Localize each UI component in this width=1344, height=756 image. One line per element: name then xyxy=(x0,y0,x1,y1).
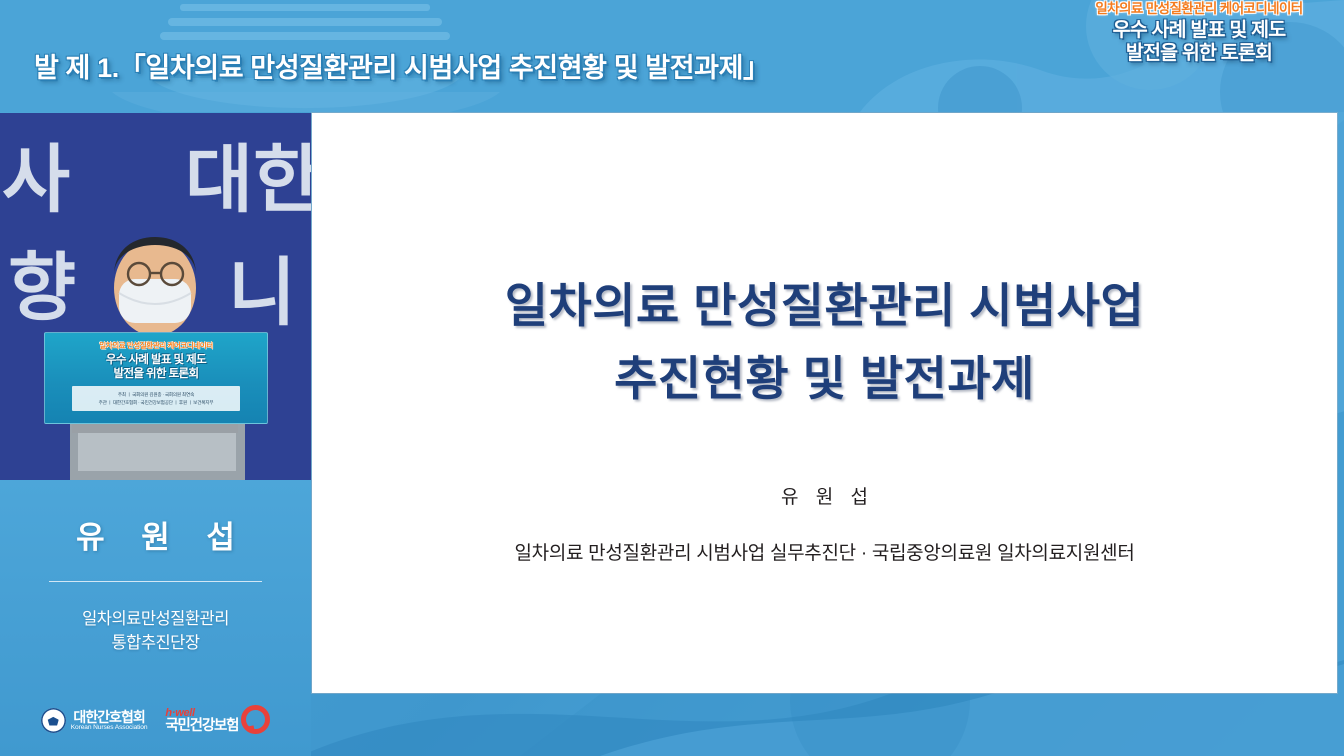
podium-banner-line2: 발전을 위한 토론회 xyxy=(45,367,267,381)
podium-banner-line1: 우수 사례 발표 및 제도 xyxy=(45,353,267,367)
speaker-role-line1: 일차의료만성질환관리 xyxy=(0,608,311,632)
nurses-seal-icon xyxy=(41,708,66,733)
presentation-slide[interactable]: 일차의료 만성질환관리 시범사업 추진현황 및 발전과제 유 원 섭 일차의료 … xyxy=(312,113,1337,693)
podium-banner-credits: 주최 ㅣ 국회의원 김원종 · 국회의원 최연숙 주관 ㅣ 대한간호협회 · 국… xyxy=(72,386,240,411)
event-logo-kicker: 일차의료 만성질환관리 케어코디네이터 xyxy=(1064,2,1334,16)
event-logo-line2: 발전을 위한 토론회 xyxy=(1064,42,1334,65)
podium-banner: 일차의료 만성질환관리 케어코디네이터 우수 사례 발표 및 제도 발전을 위한… xyxy=(44,332,268,424)
speaker-name: 유 원 섭 xyxy=(0,480,311,557)
slide-affiliation: 일차의료 만성질환관리 시범사업 실무추진단 · 국립중앙의료원 일차의료지원센… xyxy=(514,538,1134,565)
speaker-role: 일차의료만성질환관리 통합추진단장 xyxy=(0,608,311,656)
event-logo: 일차의료 만성질환관리 케어코디네이터 우수 사례 발표 및 제도 발전을 위한… xyxy=(1064,2,1334,65)
presentation-stage: 발 제 1.「일차의료 만성질환관리 시범사업 추진현황 및 발전과제」 일차의… xyxy=(0,0,1344,756)
slide-title-line1: 일차의료 만성질환관리 시범사업 xyxy=(505,279,1144,332)
kna-logo-en: Korean Nurses Association xyxy=(71,724,148,733)
svg-text:니: 니 xyxy=(228,251,296,334)
organizer-logos: 대한간호협회 Korean Nurses Association h·well … xyxy=(0,708,311,734)
podium-credit-2: 주관 ㅣ 대한간호협회 · 국민건강보험공단 ㅣ 후원 ㅣ 보건복지부 xyxy=(72,400,240,406)
slide-title-line2: 추진현황 및 발전과제 xyxy=(505,343,1144,416)
kna-logo-ko: 대한간호협회 xyxy=(71,710,148,724)
slide-title: 일차의료 만성질환관리 시범사업 추진현황 및 발전과제 xyxy=(505,270,1144,416)
podium-credit-1: 주최 ㅣ 국회의원 김원종 · 국회의원 최연숙 xyxy=(72,392,240,398)
nhis-logo: h·well 국민건강보험 xyxy=(165,708,270,734)
svg-text:대한: 대한 xyxy=(185,138,311,221)
banner-title: 발 제 1.「일차의료 만성질환관리 시범사업 추진현황 및 발전과제」 xyxy=(34,46,770,85)
speaker-divider xyxy=(49,581,262,582)
svg-text:향: 향 xyxy=(8,246,76,329)
podium-banner-kicker: 일차의료 만성질환관리 케어코디네이터 xyxy=(45,340,267,351)
video-frame-image: 사 대한 향 니 xyxy=(0,113,311,480)
slide-author: 유 원 섭 xyxy=(775,482,874,509)
speaker-role-line2: 통합추진단장 xyxy=(0,632,311,656)
korean-nurses-association-logo: 대한간호협회 Korean Nurses Association xyxy=(41,708,148,733)
speaker-info-card: 유 원 섭 일차의료만성질환관리 통합추진단장 대한간호협회 Korean Nu… xyxy=(0,480,311,756)
svg-text:사: 사 xyxy=(2,138,70,221)
nhis-logo-ko: 국민건강보험 xyxy=(165,719,238,734)
nhis-heart-icon xyxy=(241,705,270,734)
speaker-video-feed[interactable]: 사 대한 향 니 xyxy=(0,113,311,480)
event-banner: 발 제 1.「일차의료 만성질환관리 시범사업 추진현황 및 발전과제」 일차의… xyxy=(0,0,1344,112)
event-logo-line1: 우수 사례 발표 및 제도 xyxy=(1064,19,1334,42)
